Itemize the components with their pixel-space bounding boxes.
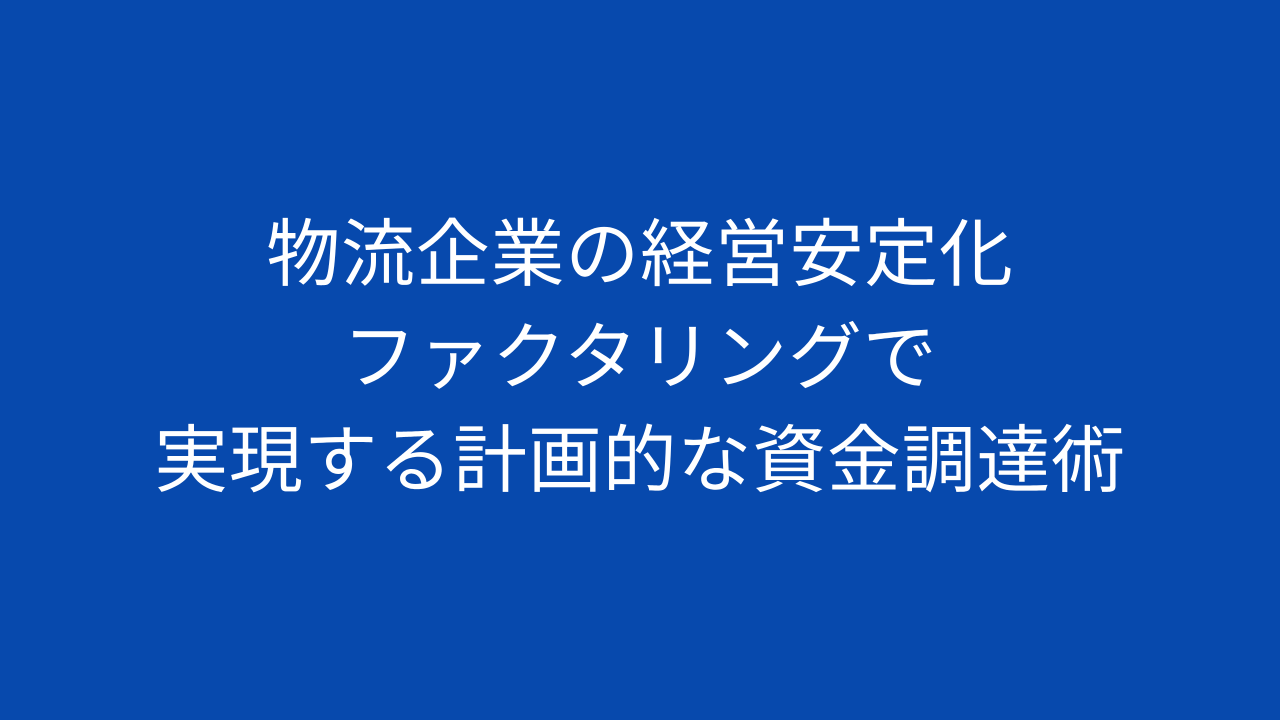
slide-title-line-2: ファクタリングで [0, 306, 1280, 409]
slide-title-block: 物流企業の経営安定化 ファクタリングで 実現する計画的な資金調達術 [0, 203, 1280, 512]
title-slide: 物流企業の経営安定化 ファクタリングで 実現する計画的な資金調達術 [0, 0, 1280, 720]
slide-title-line-1: 物流企業の経営安定化 [0, 203, 1280, 306]
slide-title-line-3: 実現する計画的な資金調達術 [0, 409, 1280, 512]
